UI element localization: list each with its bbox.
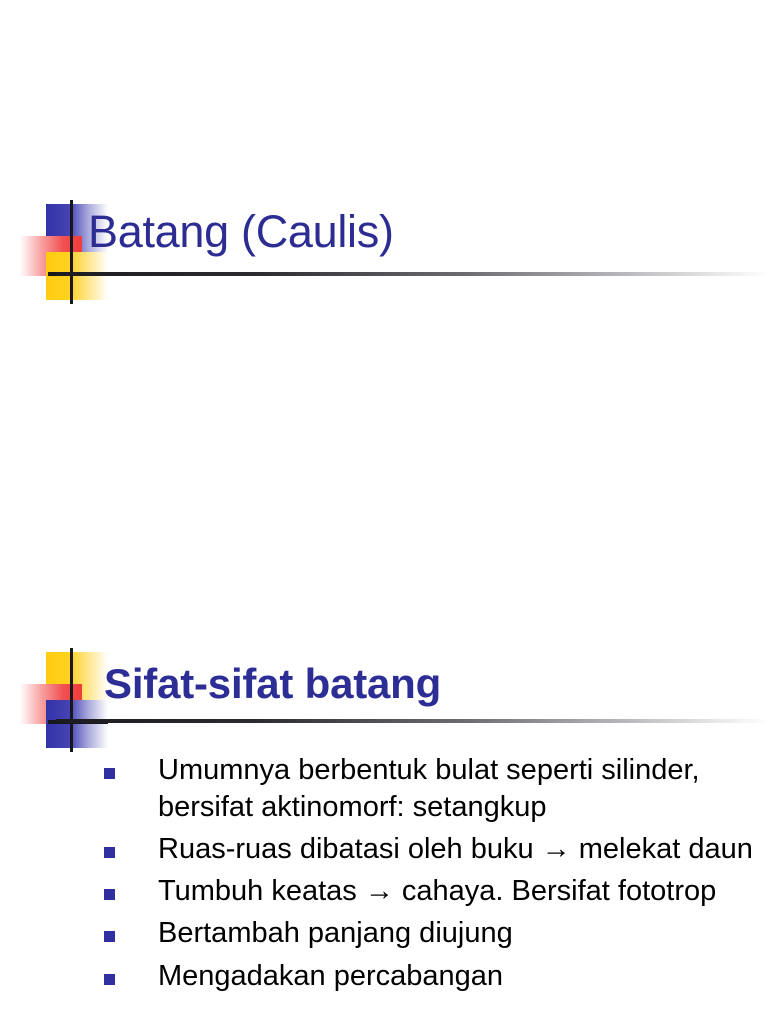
list-item: Tumbuh keatas → cahaya. Bersifat fototro… xyxy=(104,873,768,910)
slide-page: Batang (Caulis) Sifat-sifat batang Umumn… xyxy=(0,0,768,1024)
title-divider xyxy=(56,272,768,276)
section-divider xyxy=(56,719,768,723)
deco-blue-square xyxy=(46,700,108,748)
deco-vertical-rule xyxy=(70,648,73,752)
page-title: Batang (Caulis) xyxy=(88,208,394,255)
bullet-list: Umumnya berbentuk bulat seperti silinder… xyxy=(104,752,768,1000)
list-item: Ruas-ruas dibatasi oleh buku → melekat d… xyxy=(104,831,768,868)
bullet-square-icon xyxy=(104,974,115,985)
bullet-square-icon xyxy=(104,931,115,942)
bullet-square-icon xyxy=(104,889,115,900)
list-item-label: Tumbuh keatas → cahaya. Bersifat fototro… xyxy=(158,873,768,910)
section-decoration-motif xyxy=(20,644,116,752)
list-item: Umumnya berbentuk bulat seperti silinder… xyxy=(104,752,768,826)
deco-vertical-rule xyxy=(70,200,73,304)
list-item-label: Umumnya berbentuk bulat seperti silinder… xyxy=(158,752,768,826)
deco-yellow-square xyxy=(46,252,108,300)
bullet-square-icon xyxy=(104,847,115,858)
list-item: Mengadakan percabangan xyxy=(104,958,768,995)
list-item: Bertambah panjang diujung xyxy=(104,915,768,952)
bullet-square-icon xyxy=(104,768,115,779)
section-heading: Sifat-sifat batang xyxy=(104,662,441,706)
list-item-label: Bertambah panjang diujung xyxy=(158,915,768,952)
list-item-label: Mengadakan percabangan xyxy=(158,958,768,995)
list-item-label: Ruas-ruas dibatasi oleh buku → melekat d… xyxy=(158,831,768,868)
